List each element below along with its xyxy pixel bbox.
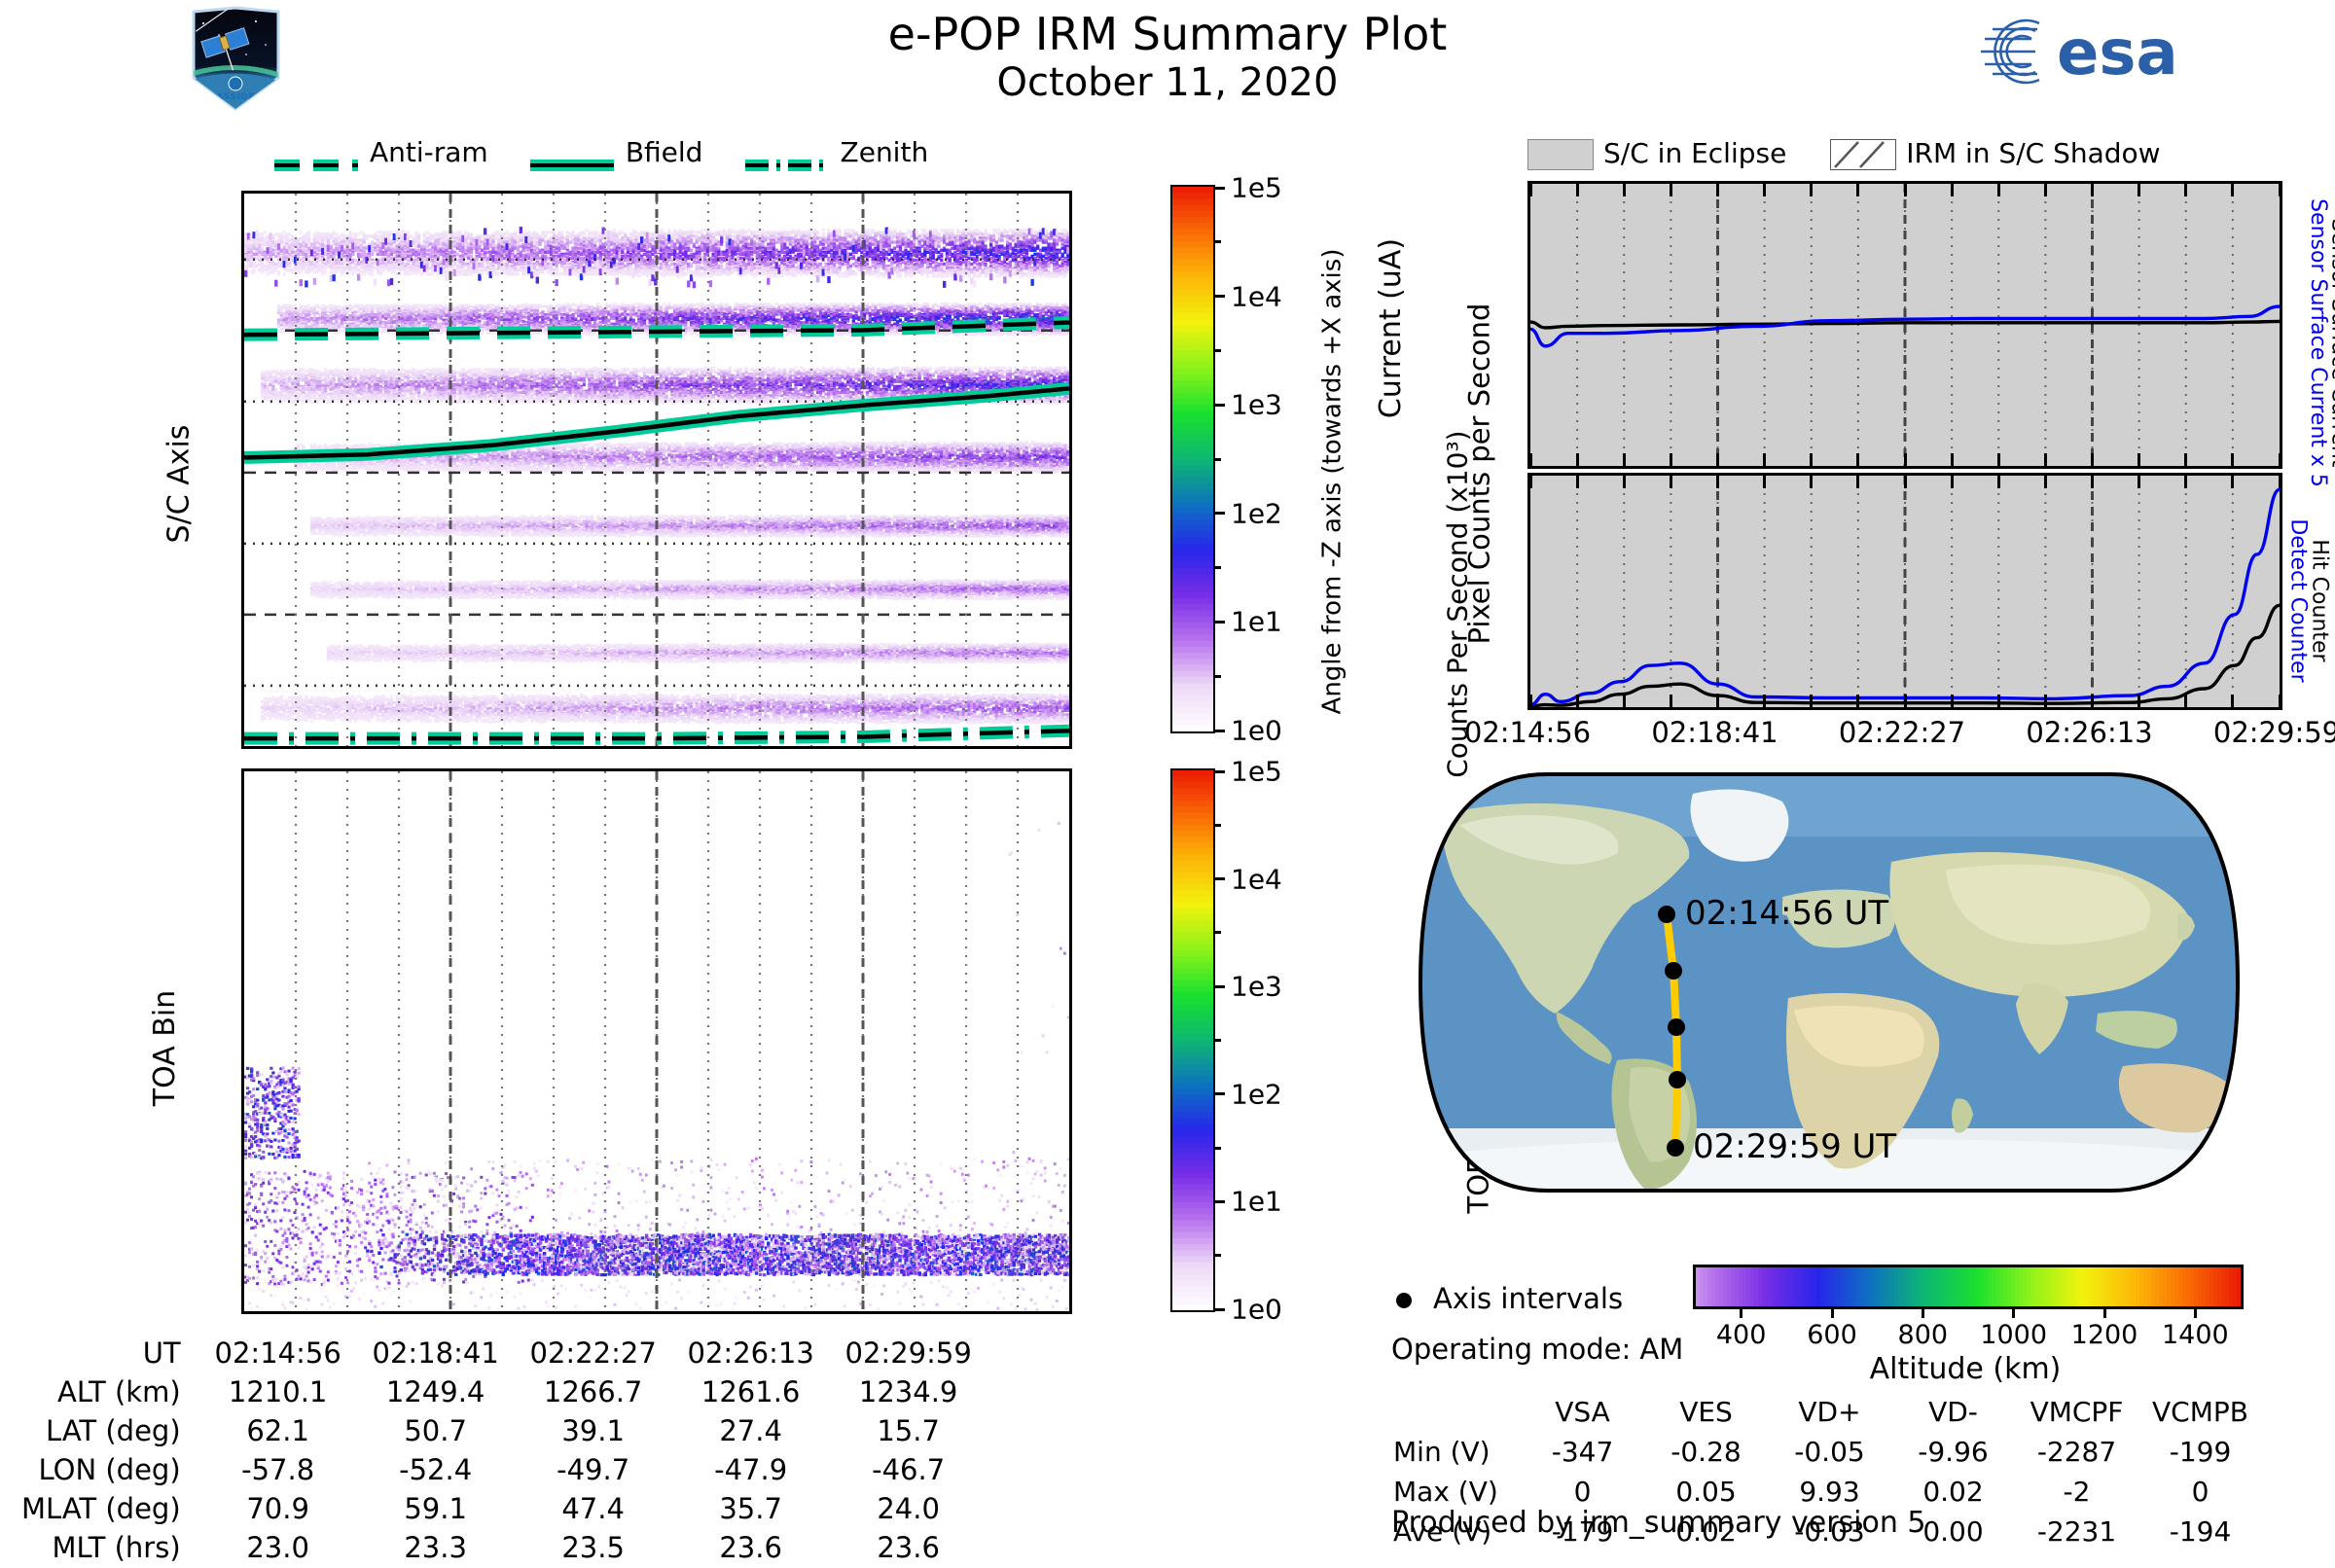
ephemeris-cell: 1249.4 [358, 1373, 514, 1410]
sensor-current-panel[interactable]: 1050-5-10 [1527, 181, 2282, 469]
ephemeris-cell: 02:29:59 [831, 1335, 987, 1372]
eclipse-swatch [1527, 139, 1594, 170]
voltage-cell: 0 [2139, 1473, 2261, 1511]
table-header-row: VSAVESVD+VD-VMCPFVCMPB [1393, 1393, 2261, 1431]
voltage-cell: -199 [2139, 1433, 2261, 1471]
axis-interval-dot-icon [1396, 1293, 1412, 1308]
ephemeris-cell: 23.5 [516, 1529, 671, 1566]
colorbar-tick-label: 1e2 [1231, 1078, 1282, 1110]
eclipse-legend: S/C in Eclipse IRM in S/C Shadow [1527, 136, 2325, 169]
time-tick-label: 02:14:56 [1464, 716, 1591, 749]
ephemeris-row-label: LON (deg) [21, 1451, 198, 1488]
legend-label-sc-eclipse: S/C in Eclipse [1603, 137, 1786, 169]
voltage-cell: -2231 [2016, 1513, 2137, 1550]
ephemeris-cell: 1234.9 [831, 1373, 987, 1410]
current-right-label-black: Sensor Surface Current [2193, 331, 2335, 355]
produced-by-label: Produced by irm_summary version 5 [1391, 1506, 1925, 1540]
ephemeris-cell: 47.4 [516, 1490, 671, 1527]
voltage-row-label: Min (V) [1393, 1433, 1520, 1471]
table-row: UT02:14:5602:18:4102:22:2702:26:1302:29:… [21, 1335, 987, 1372]
sc-axis-ylabel: S/C Axis [82, 467, 276, 501]
current-ylabel: Current (uA) [1294, 311, 1489, 345]
pixel-counts-colorbar: 1e51e41e31e21e11e0 [1170, 185, 1215, 733]
ephemeris-cell: -47.9 [673, 1451, 829, 1488]
ephemeris-cell: 62.1 [200, 1412, 356, 1449]
ephemeris-row-label: MLAT (deg) [21, 1490, 198, 1527]
ephemeris-cell: 23.6 [831, 1529, 987, 1566]
legend-item-zenith: Zenith [743, 136, 929, 168]
cassiope-mission-logo: CASSIOPE [180, 6, 292, 113]
time-tick-label: 02:22:27 [1839, 716, 1965, 749]
ephemeris-cell: -46.7 [831, 1451, 987, 1488]
ephemeris-cell: 23.0 [200, 1529, 356, 1566]
voltage-column-header: VD- [1892, 1393, 2014, 1431]
zenith-line-swatch [743, 147, 831, 160]
voltage-column-header: VES [1645, 1393, 1767, 1431]
voltage-column-header: VSA [1522, 1393, 1643, 1431]
map-start-time-label: 02:14:56 UT [1685, 894, 1888, 933]
ephemeris-cell: 02:26:13 [673, 1335, 829, 1372]
colorbar-tick-label: 1e5 [1231, 172, 1282, 204]
spectrogram-legend: Anti-ram Bfield Zenith [272, 136, 1012, 169]
ephemeris-cell: 02:22:27 [516, 1335, 671, 1372]
voltage-column-header: VD+ [1769, 1393, 1890, 1431]
ephemeris-cell: 23.6 [673, 1529, 829, 1566]
ephemeris-cell: 50.7 [358, 1412, 514, 1449]
colorbar-tick-label: 1e0 [1231, 1294, 1282, 1326]
table-row: Min (V)-347-0.28-0.05-9.96-2287-199 [1393, 1433, 2261, 1471]
altitude-tick-label: 1400 [2162, 1320, 2229, 1350]
ephemeris-cell: 35.7 [673, 1490, 829, 1527]
altitude-tick-label: 400 [1716, 1320, 1767, 1350]
counts-ylabel: Counts Per Second (x10³) [1284, 588, 1537, 620]
voltage-cell: -9.96 [1892, 1433, 2014, 1471]
anti-ram-line-swatch [272, 147, 360, 160]
ephemeris-cell: 02:18:41 [358, 1335, 514, 1372]
ephemeris-cell: 70.9 [200, 1490, 356, 1527]
voltage-column-header: VMCPF [2016, 1393, 2137, 1431]
tof-counts-colorbar: 1e51e41e31e21e11e0 [1170, 768, 1215, 1312]
ephemeris-row-label: UT [21, 1335, 198, 1372]
table-row: ALT (km)1210.11249.41266.71261.61234.9 [21, 1373, 987, 1410]
colorbar-tick-label: 1e3 [1231, 971, 1282, 1003]
altitude-tick-label: 1200 [2071, 1320, 2138, 1350]
legend-item-sc-eclipse: S/C in Eclipse [1527, 137, 1786, 170]
colorbar-tick-label: 1e4 [1231, 863, 1282, 895]
ephemeris-cell: 15.7 [831, 1412, 987, 1449]
ephemeris-cell: 27.4 [673, 1412, 829, 1449]
colorbar-tick-label: 1e3 [1231, 389, 1282, 421]
ephemeris-cell: 02:14:56 [200, 1335, 356, 1372]
legend-label-irm-shadow: IRM in S/C Shadow [1906, 137, 2160, 169]
table-row: MLAT (deg)70.959.147.435.724.0 [21, 1490, 987, 1527]
table-row: LAT (deg)62.150.739.127.415.7 [21, 1412, 987, 1449]
altitude-tick-label: 1000 [1980, 1320, 2047, 1350]
sc-axis-spectrogram-panel[interactable]: -X/-Z-X+Z/-X+Z+X/+Z+X-Z/+X-Z315270225180… [241, 191, 1072, 749]
legend-item-anti-ram: Anti-ram [272, 136, 488, 168]
esa-logo: esa [1975, 10, 2296, 93]
legend-label-zenith: Zenith [841, 136, 929, 168]
voltage-cell: -0.05 [1769, 1433, 1890, 1471]
voltage-cell: -347 [1522, 1433, 1643, 1471]
voltage-cell: -2287 [2016, 1433, 2137, 1471]
spacer-cell [1393, 1393, 1520, 1431]
ground-track-map[interactable]: 02:14:56 UT 02:29:59 UT [1401, 768, 2257, 1196]
ephemeris-row-label: ALT (km) [21, 1373, 198, 1410]
right-panels-time-axis: 02:14:5602:18:4102:22:2702:26:1302:29:59 [1527, 716, 2277, 755]
time-tick-label: 02:18:41 [1651, 716, 1778, 749]
counts-right-label-black: Hit Counter [2193, 588, 2335, 613]
colorbar-tick-label: 1e5 [1231, 756, 1282, 788]
ephemeris-cell: 59.1 [358, 1490, 514, 1527]
table-row: MLT (hrs)23.023.323.523.623.6 [21, 1529, 987, 1566]
altitude-colorbar: 400600800100012001400 [1693, 1265, 2244, 1309]
toa-bin-ylabel: TOA Bin [68, 1031, 263, 1065]
colorbar-tick-label: 1e1 [1231, 606, 1282, 638]
colorbar-tick-label: 1e4 [1231, 280, 1282, 312]
legend-item-bfield: Bfield [528, 136, 703, 168]
map-end-time-label: 02:29:59 UT [1693, 1127, 1896, 1166]
colorbar-tick-label: 1e0 [1231, 715, 1282, 747]
ephemeris-cell: -52.4 [358, 1451, 514, 1488]
voltage-column-header: VCMPB [2139, 1393, 2261, 1431]
ephemeris-row-label: MLT (hrs) [21, 1529, 198, 1566]
axis-intervals-legend: Axis intervals [1396, 1282, 1623, 1315]
operating-mode-label: Operating mode: AM [1391, 1333, 1683, 1366]
bfield-line-swatch [528, 147, 616, 160]
ephemeris-cell: 1261.6 [673, 1373, 829, 1410]
legend-label-bfield: Bfield [626, 136, 703, 168]
table-row: LON (deg)-57.8-52.4-49.7-47.9-46.7 [21, 1451, 987, 1488]
altitude-colorbar-label: Altitude (km) [1693, 1352, 2238, 1386]
altitude-tick-label: 800 [1898, 1320, 1949, 1350]
ephemeris-cell: 39.1 [516, 1412, 671, 1449]
ephemeris-cell: -57.8 [200, 1451, 356, 1488]
ephemeris-cell: 1266.7 [516, 1373, 671, 1410]
ephemeris-cell: 1210.1 [200, 1373, 356, 1410]
altitude-tick-label: 600 [1807, 1320, 1857, 1350]
svg-text:esa: esa [2057, 18, 2178, 89]
time-tick-label: 02:26:13 [2026, 716, 2152, 749]
toa-bin-spectrogram-panel[interactable]: 200150100501 [241, 768, 1072, 1314]
legend-label-anti-ram: Anti-ram [370, 136, 488, 168]
voltage-cell: -2 [2016, 1473, 2137, 1511]
ephemeris-cell: 23.3 [358, 1529, 514, 1566]
voltage-cell: -0.28 [1645, 1433, 1767, 1471]
counter-rates-panel[interactable]: 543210 [1527, 473, 2282, 710]
axis-intervals-label: Axis intervals [1433, 1282, 1623, 1315]
ephemeris-cell: -49.7 [516, 1451, 671, 1488]
ephemeris-table: UT02:14:5602:18:4102:22:2702:26:1302:29:… [19, 1333, 988, 1568]
colorbar-tick-label: 1e2 [1231, 497, 1282, 529]
voltage-cell: -194 [2139, 1513, 2261, 1550]
colorbar-tick-label: 1e1 [1231, 1186, 1282, 1218]
shadow-hatch-swatch [1830, 139, 1896, 170]
time-tick-label: 02:29:59 [2213, 716, 2335, 749]
legend-item-irm-shadow: IRM in S/C Shadow [1830, 137, 2160, 170]
ephemeris-row-label: LAT (deg) [21, 1412, 198, 1449]
ephemeris-cell: 24.0 [831, 1490, 987, 1527]
